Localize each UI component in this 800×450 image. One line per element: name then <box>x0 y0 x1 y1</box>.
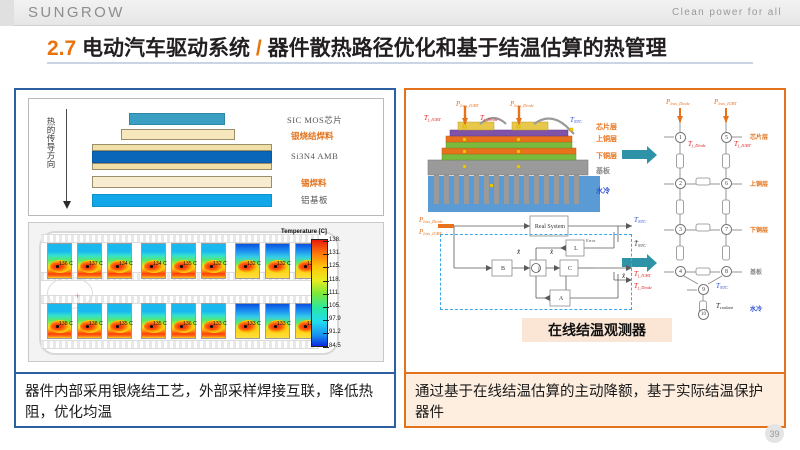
app-header-bar: SUNGROW Clean power for all <box>0 0 800 26</box>
rc-layer-label-upper-cu: 上铜层 <box>750 179 768 188</box>
module-thermal-cross-section: Ploss_IGBT Ploss_Diode Tj_IGBT Tj_Diode … <box>420 98 610 218</box>
stack-label-sic-mos: SIC MOS芯片 <box>287 114 342 126</box>
title-main-text: 电动汽车驱动系统 <box>82 37 250 60</box>
flow-arrow-top-icon <box>622 150 648 159</box>
die-temperature-label: 133 C <box>277 321 291 327</box>
rc-source-left-label: Ploss_Diode <box>666 98 690 106</box>
rc-layer-label-baseplate: 基板 <box>750 267 762 276</box>
colorbar-tick-label: 84.5 <box>329 343 341 349</box>
module-layer-label-water-cooling: 水冷 <box>596 186 610 196</box>
module-layer-label-upper-cu: 上铜层 <box>596 134 617 144</box>
colorbar-tick-label: 125. <box>329 263 341 269</box>
module-label-ploss-diode: Ploss_Diode <box>510 100 534 108</box>
stack-layer-amb-top-cu <box>92 144 272 151</box>
die-temperature-label: 135 C <box>183 261 197 267</box>
right-content-panel: Ploss_IGBT Ploss_Diode Tj_IGBT Tj_Diode … <box>404 88 786 374</box>
die-temperature-label: 138 C <box>59 321 73 327</box>
header-tagline: Clean power for all <box>672 7 782 18</box>
right-caption-box: 通过基于在线结温估算的主动降额，基于实际结温保护器件 <box>404 374 786 428</box>
die-temperature-label: 136 C <box>59 261 73 267</box>
rc-node: 3 <box>675 224 686 235</box>
observer-output-x-hat: x̂ <box>622 272 625 280</box>
observer-block-diagram: Real System B L ∫ C A Error Ploss_Diode … <box>418 212 654 316</box>
die-temperature-label: 135 C <box>153 321 167 327</box>
module-label-tntc: TNTC <box>570 116 582 124</box>
die-temperature-label: 132 C <box>247 261 261 267</box>
title-separator: / <box>256 37 262 60</box>
observer-block-integrator: ∫ <box>531 261 547 277</box>
module-label-tj-diode: Tj_Diode <box>480 114 498 122</box>
rc-label-tj-igbt: Tj_IGBT <box>734 140 751 148</box>
observer-block-l: L <box>567 241 585 257</box>
observer-block-real-system: Real System <box>531 217 569 237</box>
die-temperature-label: 132 C <box>277 261 291 267</box>
die-temperature-label: 136 C <box>183 321 197 327</box>
stack-label-solder: 锡焊料 <box>301 177 327 189</box>
rc-node: 2 <box>675 178 686 189</box>
title-sub-text: 器件散热路径优化和基于结温估算的热管理 <box>268 37 667 60</box>
slide-title-area: 2.7 电动汽车驱动系统 / 器件散热路径优化和基于结温估算的热管理 <box>0 32 800 64</box>
title-divider <box>47 62 753 64</box>
stack-layer-silver-sinter <box>121 129 235 140</box>
observer-input-ploss-igbt: Ploss_IGBT <box>419 228 442 236</box>
die-temperature-label: 134 C <box>153 261 167 267</box>
die-temperature-label: 134 C <box>119 261 133 267</box>
online-junction-temp-observer-badge: 在线结温观测器 <box>522 318 672 342</box>
rc-node: 6 <box>721 178 732 189</box>
colorbar-title: Temperature [C] <box>281 229 327 235</box>
stack-layer-si3n4 <box>92 151 272 163</box>
crosshair-marker-icon: + <box>75 291 80 301</box>
rc-node: 1 <box>675 132 686 143</box>
rc-node: 10 <box>698 309 709 320</box>
observer-input-ploss-diode: Ploss_Diode <box>419 216 443 224</box>
slide-number: 2.7 <box>47 37 76 60</box>
stack-layer-sic-mos <box>129 113 225 125</box>
stack-layer-solder <box>92 176 272 188</box>
die-temperature-label: 133 C <box>247 321 261 327</box>
pin-rail-bottom <box>41 340 319 349</box>
stack-label-al-baseplate: 铝基板 <box>301 194 328 206</box>
module-layer-label-baseplate: 基板 <box>596 166 610 176</box>
die-temperature-label: 133 C <box>213 321 227 327</box>
module-layer-label-chip: 芯片层 <box>596 122 617 132</box>
colorbar-tick-label: 111. <box>329 290 340 296</box>
die-temperature-label: 138 C <box>89 321 103 327</box>
rc-node: 9 <box>698 284 709 295</box>
die-temperature-label: 135 C <box>119 321 133 327</box>
stack-layer-al-baseplate <box>92 194 272 207</box>
rc-label-tcoolant: Tcoolant <box>716 302 733 310</box>
sungrow-logo: SUNGROW <box>28 4 125 21</box>
colorbar-tick-label: 118. <box>329 277 340 283</box>
colorbar-tick-label: 91.2 <box>329 329 341 335</box>
page-number-badge: 39 <box>765 424 784 443</box>
die-temperature-label: 137 C <box>89 261 103 267</box>
observer-state-dot-hat-label: x̂̇ <box>517 248 520 256</box>
left-content-panel: 热的传导方向 SIC MOS芯片 银烧结焊料 Si3N4 AMB 锡焊料 铝基板… <box>14 88 396 374</box>
die-temperature-label: 132 C <box>213 261 227 267</box>
observer-error-label: Error <box>586 238 596 243</box>
observer-block-c: C <box>561 261 579 277</box>
thermal-rc-network-diagram: 12345678910 Ploss_Diode Ploss_IGBT Tj_Di… <box>658 96 786 316</box>
header-left-stub <box>0 0 14 26</box>
observer-block-a: A <box>551 291 571 307</box>
rc-node: 7 <box>721 224 732 235</box>
colorbar-tick-label: 138. <box>329 237 341 243</box>
module-label-ploss-igbt: Ploss_IGBT <box>456 100 479 108</box>
colorbar-tick-label: 97.9 <box>329 316 341 322</box>
colorbar-tick-label: 105. <box>329 303 341 309</box>
rc-layer-label-chip: 芯片层 <box>750 132 768 141</box>
rc-label-tntc: TNTC <box>716 282 728 290</box>
observer-block-b: B <box>493 261 513 277</box>
observer-output-tntc: TNTC <box>634 216 646 224</box>
observer-state-hat-label: x̂ <box>550 248 553 256</box>
rc-label-tj-diode: Tj_Diode <box>688 140 706 148</box>
stack-label-si3n4: Si3N4 AMB <box>291 151 338 161</box>
rc-node: 4 <box>675 266 686 277</box>
heat-flow-arrow-icon <box>66 109 67 202</box>
stack-layer-amb-bottom-cu <box>92 163 272 170</box>
module-label-tj-igbt: Tj_IGBT <box>424 114 441 122</box>
page-title: 2.7 电动汽车驱动系统 / 器件散热路径优化和基于结温估算的热管理 <box>47 32 667 62</box>
pin-rail-top <box>41 234 319 243</box>
stack-label-silver-sinter: 银烧结焊料 <box>291 130 334 142</box>
observer-output-tntc-hat: T̂NTC <box>634 240 646 248</box>
observer-output-tj-igbt: Tj_IGBT <box>634 270 651 278</box>
device-stack-diagram: 热的传导方向 SIC MOS芯片 银烧结焊料 Si3N4 AMB 锡焊料 铝基板 <box>28 98 384 216</box>
colorbar-tick-label: 131. <box>329 250 341 256</box>
left-caption-box: 器件内部采用银烧结工艺，外部采样焊接互联，降低热阻，优化均温 <box>14 374 396 428</box>
rc-node: 5 <box>721 132 732 143</box>
thermal-simulation-image: + 136 C137 C134 C134 C135 C132 C132 C132… <box>28 222 384 362</box>
rc-layer-label-lower-cu: 下铜层 <box>750 225 768 234</box>
rc-layer-label-water-cooling: 水冷 <box>750 304 762 313</box>
module-layer-label-lower-cu: 下铜层 <box>596 151 617 161</box>
observer-output-tj-diode: Tj_Diode <box>634 282 652 290</box>
heat-flow-direction-label: 热的传导方向 <box>45 117 57 168</box>
rc-source-right-label: Ploss_IGBT <box>714 98 737 106</box>
rc-node: 8 <box>721 266 732 277</box>
